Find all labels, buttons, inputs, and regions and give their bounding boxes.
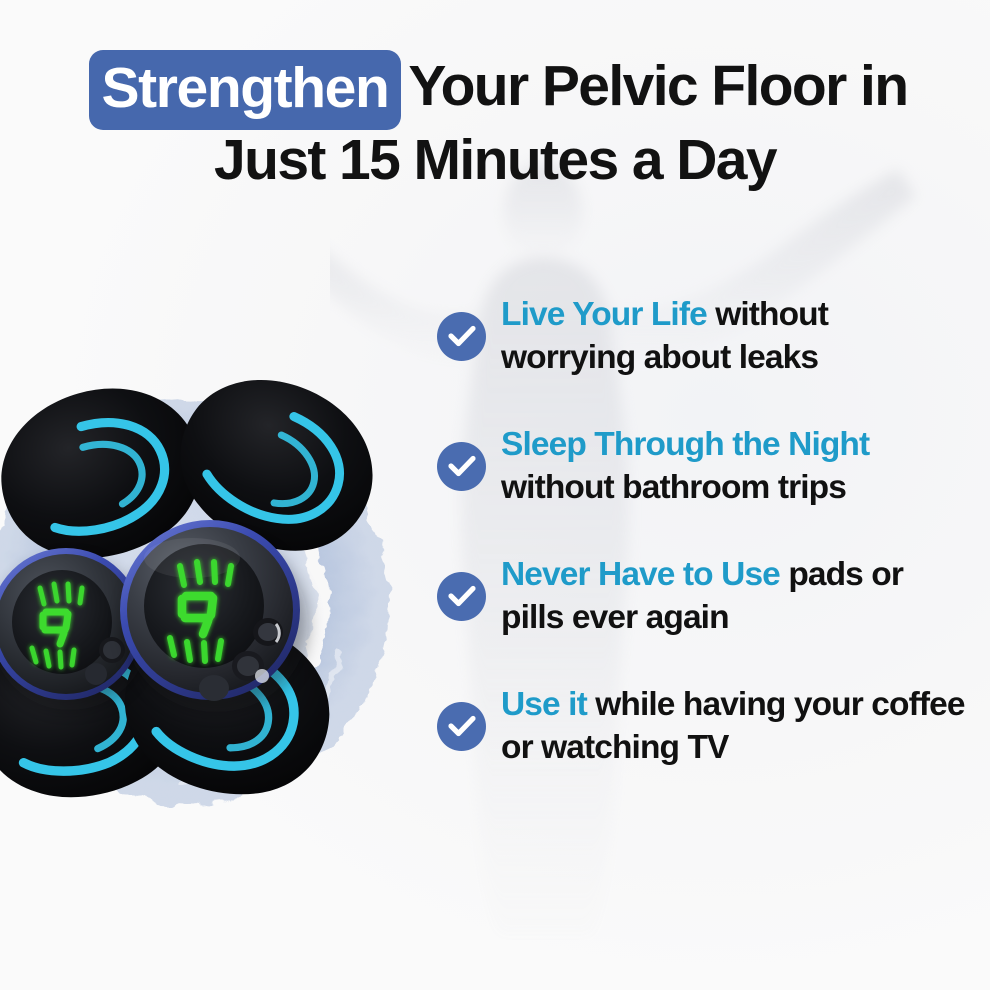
headline-line-1-rest: Your Pelvic Floor in: [408, 54, 907, 118]
product-image-ems-massager: [0, 352, 412, 862]
benefit-rest: without bathroom trips: [501, 469, 846, 506]
poster-canvas: StrengthenYour Pelvic Floor in Just 15 M…: [0, 0, 990, 990]
checkmark-icon: [437, 702, 486, 751]
benefit-highlight: Sleep Through the Night: [501, 426, 869, 463]
headline-line-2: Just 15 Minutes a Day: [0, 125, 990, 195]
checkmark-icon: [437, 312, 486, 361]
benefit-item: Use it while having your coffee or watch…: [437, 683, 967, 769]
benefit-highlight: Use it: [501, 686, 587, 723]
benefit-item: Never Have to Use pads or pills ever aga…: [437, 553, 967, 639]
benefit-text: Use it while having your coffee or watch…: [501, 683, 967, 769]
benefit-highlight: Never Have to Use: [501, 556, 780, 593]
benefit-text: Never Have to Use pads or pills ever aga…: [501, 553, 967, 639]
benefit-item: Sleep Through the Night without bathroom…: [437, 423, 967, 509]
headline: StrengthenYour Pelvic Floor in Just 15 M…: [0, 48, 990, 195]
headline-highlight-badge: Strengthen: [89, 50, 402, 130]
checkmark-icon: [437, 572, 486, 621]
benefits-list: Live Your Life without worrying about le…: [437, 293, 967, 769]
benefit-text: Live Your Life without worrying about le…: [501, 293, 967, 379]
benefit-item: Live Your Life without worrying about le…: [437, 293, 967, 379]
checkmark-icon: [437, 442, 486, 491]
headline-line-1: StrengthenYour Pelvic Floor in: [0, 48, 990, 128]
benefit-text: Sleep Through the Night without bathroom…: [501, 423, 967, 509]
benefit-highlight: Live Your Life: [501, 296, 707, 333]
